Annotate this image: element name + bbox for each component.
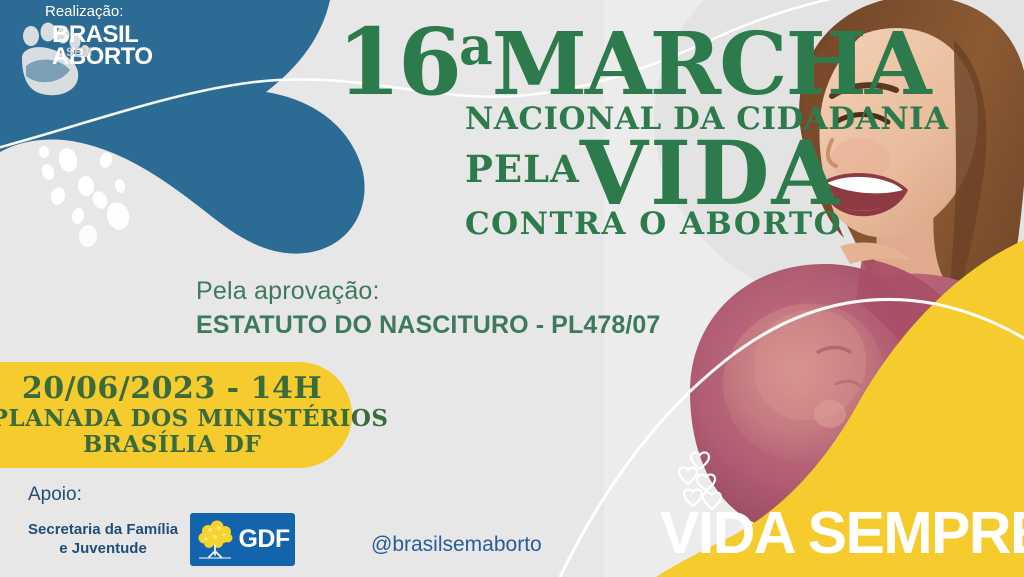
realizacao-label: Realização: <box>45 3 123 20</box>
page-title: 16aMARCHA NACIONAL DA CIDADANIA PELAVIDA… <box>337 22 837 239</box>
headline-word-pela: PELA <box>465 147 580 191</box>
headline-contra-line: CONTRA O ABORTO <box>465 210 837 239</box>
gdf-logo: GDF <box>190 513 295 566</box>
apoio-block: Apoio: Secretaria da Família e Juventude <box>28 484 295 566</box>
social-handle[interactable]: @brasilsemaborto <box>371 533 542 557</box>
approval-block: Pela aprovação: ESTATUTO DO NASCITURO - … <box>196 277 660 340</box>
headline-pela-vida-line: PELAVIDA <box>465 134 837 213</box>
approval-bill: ESTATUTO DO NASCITURO - PL478/07 <box>196 311 660 340</box>
gdf-label: GDF <box>238 525 289 554</box>
headline-number: 16 <box>337 8 459 116</box>
ipe-tree-icon <box>195 519 235 561</box>
brand-line-sem: SEM <box>66 45 92 59</box>
apoio-row: Secretaria da Família e Juventude <box>28 513 295 566</box>
poster-canvas: Realização: BRASIL ABORTO SEM 16aMARCHA … <box>0 0 1024 577</box>
slogan-vida-sempre: VIDA SEMPRE! <box>660 499 1024 567</box>
event-date-banner: 20/06/2023 - 14H ESPLANADA DOS MINISTÉRI… <box>0 362 352 468</box>
approval-intro: Pela aprovação: <box>196 277 660 306</box>
headline-marcha-line: 16aMARCHA <box>337 22 837 103</box>
event-place: ESPLANADA DOS MINISTÉRIOS <box>0 406 389 432</box>
event-city: BRASÍLIA DF <box>83 432 261 458</box>
apoio-label: Apoio: <box>28 484 295 506</box>
headline-ordinal: a <box>459 16 492 77</box>
bubble-decorations <box>38 146 132 249</box>
event-date: 20/06/2023 - 14H <box>22 372 322 406</box>
secretaria-name: Secretaria da Família e Juventude <box>28 521 178 558</box>
headline-word-marcha: MARCHA <box>492 14 930 115</box>
